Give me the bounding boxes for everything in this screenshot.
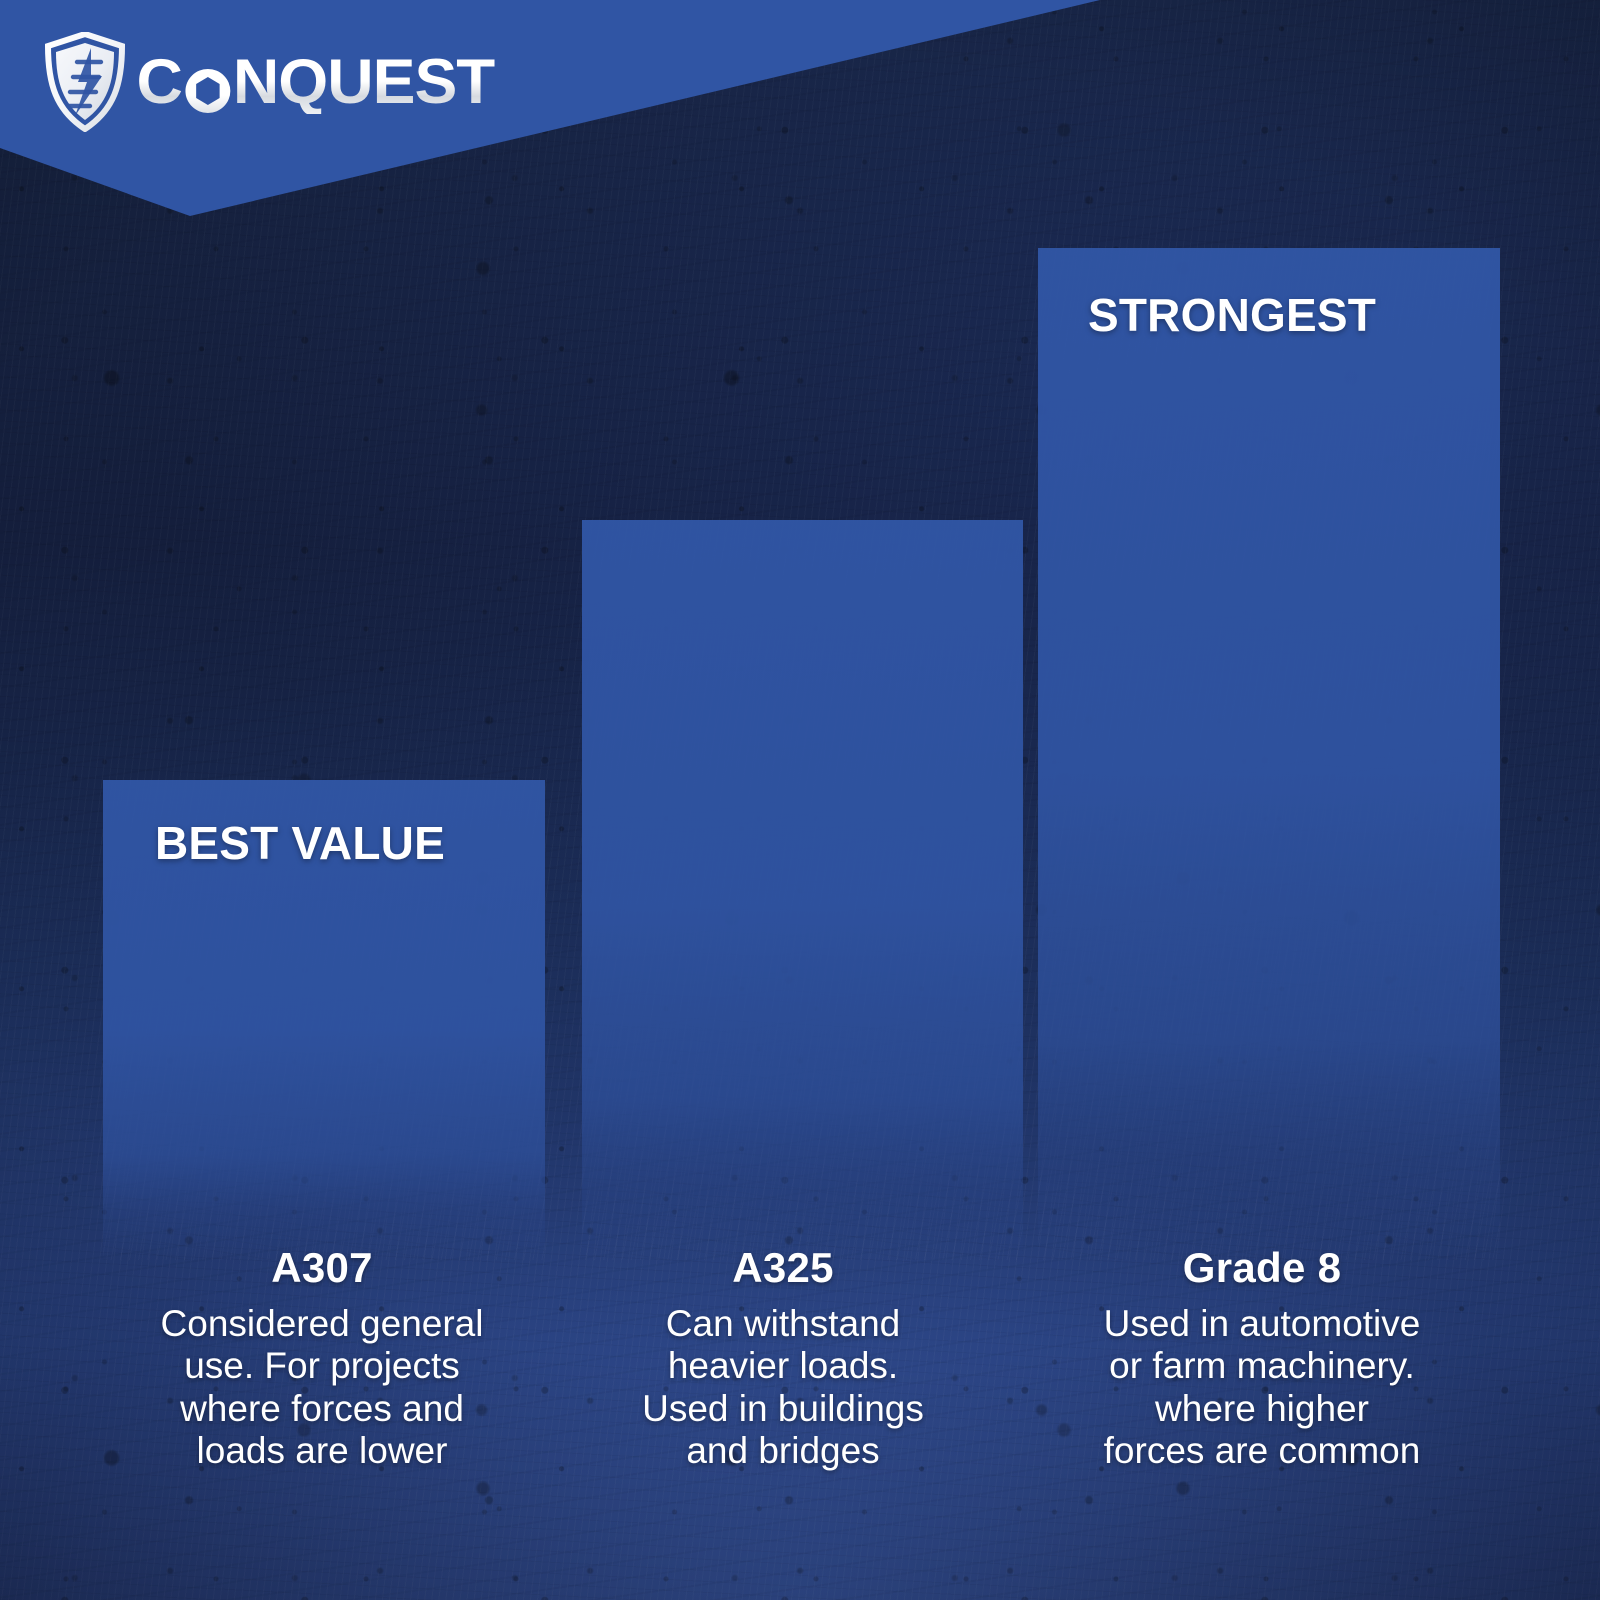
caption-line: or farm machinery. <box>1018 1345 1506 1388</box>
bar-a325 <box>582 520 1023 1260</box>
brand-wordmark: C NQUEST <box>136 51 494 114</box>
column-title-a307: A307 <box>82 1246 562 1291</box>
wordmark-text-end: NQUEST <box>233 51 495 114</box>
bar-grade8 <box>1038 248 1500 1260</box>
caption-line: Considered general <box>88 1303 556 1346</box>
column-a325: A325 Can withstand heavier loads. Used i… <box>562 1246 1004 1526</box>
column-description-grade8: Used in automotive or farm machinery. wh… <box>1012 1303 1512 1473</box>
hexagon-bolt-icon <box>184 62 231 108</box>
shield-bolt-icon <box>44 32 126 132</box>
caption-line: Can withstand <box>568 1303 998 1346</box>
column-description-a325: Can withstand heavier loads. Used in bui… <box>562 1303 1004 1473</box>
badge-strongest: STRONGEST <box>1088 292 1376 338</box>
caption-line: forces are common <box>1018 1430 1506 1473</box>
caption-line: use. For projects <box>88 1345 556 1388</box>
caption-line: heavier loads. <box>568 1345 998 1388</box>
column-a307: A307 Considered general use. For project… <box>82 1246 562 1526</box>
wordmark-text-start: C <box>136 51 181 114</box>
caption-line: where higher <box>1018 1388 1506 1431</box>
caption-line: Used in automotive <box>1018 1303 1506 1346</box>
infographic-canvas: BEST VALUE STRONGEST A307 Considered gen… <box>0 0 1600 1600</box>
caption-line: loads are lower <box>88 1430 556 1473</box>
brand-logo[interactable]: C NQUEST <box>44 32 491 132</box>
column-title-a325: A325 <box>562 1246 1004 1291</box>
column-title-grade8: Grade 8 <box>1012 1246 1512 1291</box>
column-grade8: Grade 8 Used in automotive or farm machi… <box>1012 1246 1512 1526</box>
column-description-a307: Considered general use. For projects whe… <box>82 1303 562 1473</box>
caption-line: and bridges <box>568 1430 998 1473</box>
badge-best-value: BEST VALUE <box>155 820 445 866</box>
caption-line: where forces and <box>88 1388 556 1431</box>
caption-line: Used in buildings <box>568 1388 998 1431</box>
caption-row: A307 Considered general use. For project… <box>0 1246 1600 1526</box>
